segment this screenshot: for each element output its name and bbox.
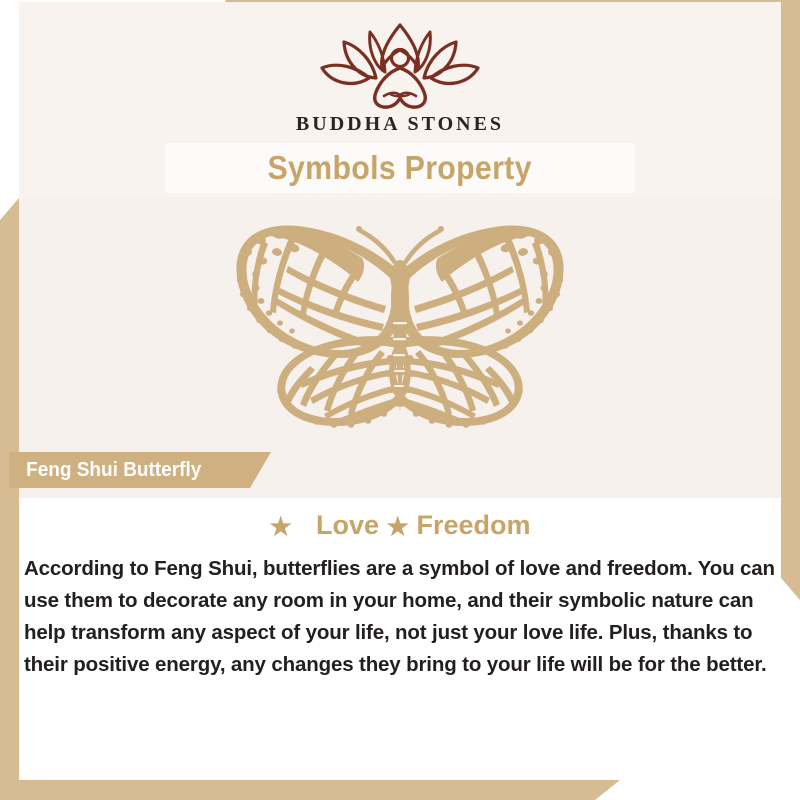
brand-logo: BUDDHA STONES [0, 22, 800, 134]
attribute-love: Love [316, 510, 379, 540]
attributes-subtitle: ★ Love ★ Freedom [0, 512, 800, 540]
description-paragraph: According to Feng Shui, butterflies are … [24, 553, 780, 681]
butterfly-icon [190, 218, 610, 443]
left-accent-bar [0, 198, 19, 800]
brand-wordmark: BUDDHA STONES [0, 114, 800, 134]
attribute-freedom: Freedom [416, 510, 530, 540]
page-title: Symbols Property [268, 149, 532, 187]
page-title-bar: Symbols Property [165, 143, 635, 193]
star-icon-middle: ★ [387, 513, 409, 541]
bottom-accent-band [0, 780, 620, 800]
star-icon-left: ★ [270, 513, 292, 541]
butterfly-illustration [190, 218, 610, 443]
product-infographic-page: BUDDHA STONES Symbols Property [0, 0, 800, 800]
category-banner-label: Feng Shui Butterfly [9, 459, 201, 482]
category-banner: Feng Shui Butterfly [9, 452, 271, 488]
lotus-meditation-icon [314, 22, 486, 112]
